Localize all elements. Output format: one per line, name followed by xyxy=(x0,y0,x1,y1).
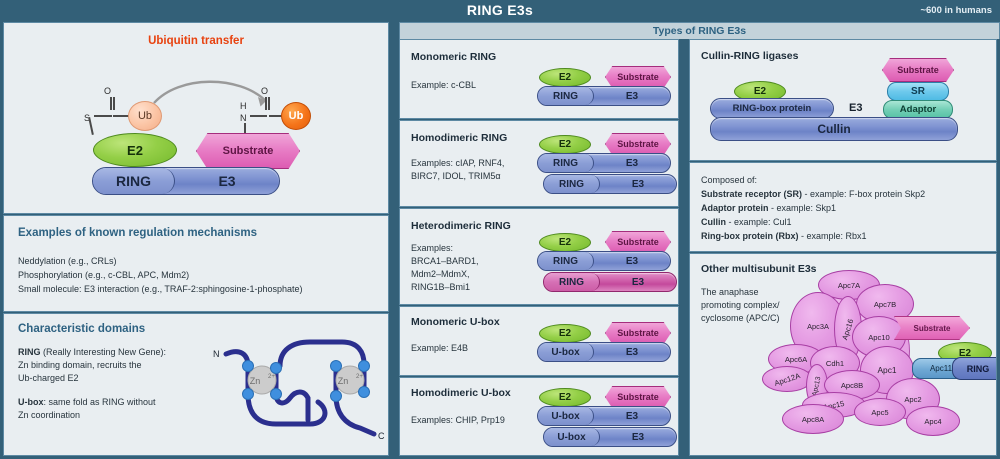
substrate-hexagon: Substrate xyxy=(605,322,671,344)
homodimeric-ubox-example-0: Examples: CHIP, Prp19 xyxy=(411,414,505,426)
apc-subunit: Apc5 xyxy=(854,398,906,426)
composed-row-2: Cullin - example: Cul1 xyxy=(701,215,925,229)
e3-label: E3 xyxy=(175,173,279,189)
regulation-lines: Neddylation (e.g., CRLs) Phosphorylation… xyxy=(18,254,302,296)
ring-box-protein-capsule: RING-box protein xyxy=(710,98,834,119)
substrate-receptor-block: SR xyxy=(887,82,949,101)
bond-c-o-right xyxy=(265,97,267,110)
composed-bold-0: Substrate receptor (SR) xyxy=(701,189,802,199)
ring-box-protein-label: RING-box protein xyxy=(733,103,812,114)
apc-subunit: Apc12A xyxy=(762,366,812,392)
e3-label: E3 xyxy=(600,432,676,443)
heterodimeric-ring-example-1: BRCA1–BARD1, xyxy=(411,255,479,268)
ubox-domain-label: U-box xyxy=(544,428,600,446)
composed-row-3: Ring-box protein (Rbx) - example: Rbx1 xyxy=(701,229,925,243)
ubox-e3-capsule: U-box E3 xyxy=(543,427,677,447)
ring-rest: (Really Interesting New Gene): xyxy=(41,347,167,357)
e3-label: E3 xyxy=(594,158,670,169)
ring-domain-label: RING xyxy=(544,273,600,291)
apc-subunit: Apc4 xyxy=(906,406,960,436)
ring-chip: RING xyxy=(952,357,997,380)
svg-text:Zn: Zn xyxy=(338,376,349,386)
heterodimeric-ring-examples: Examples: BRCA1–BARD1, Mdm2–MdmX, RING1B… xyxy=(411,242,479,294)
bond-c-o-right2 xyxy=(268,97,270,110)
monomeric-ubox-title: Monomeric U-box xyxy=(411,316,500,328)
monomeric-ring-example-0: Example: c-CBL xyxy=(411,79,476,91)
panel-cullin-ring-ligases: Cullin-RING ligases E2 RING-box protein … xyxy=(689,39,997,161)
e3-label: E3 xyxy=(600,277,676,288)
regulation-line-2: Small molecule: E3 interaction (e.g., TR… xyxy=(18,282,302,296)
composed-label: Composed of: xyxy=(701,173,925,187)
homodimeric-ring-example-0: Examples: cIAP, RNF4, xyxy=(411,157,504,170)
ubox-e3-capsule: U-box E3 xyxy=(537,342,671,362)
svg-text:2+: 2+ xyxy=(356,374,363,380)
e2-oval: E2 xyxy=(539,388,591,407)
panel-regulation: Examples of known regulation mechanisms … xyxy=(3,215,389,312)
substrate-hexagon: Substrate xyxy=(605,66,671,88)
composed-row-1: Adaptor protein - example: Skp1 xyxy=(701,201,925,215)
bond-s-c xyxy=(94,115,112,117)
svg-text:Zn: Zn xyxy=(250,376,261,386)
domains-title: Characteristic domains xyxy=(18,323,145,335)
crl-title: Cullin-RING ligases xyxy=(701,50,798,62)
composed-bold-2: Cullin xyxy=(701,217,726,227)
e3-label: E3 xyxy=(594,411,670,422)
ring-domain-label: RING xyxy=(544,175,600,193)
ubox-domain-label: U-box xyxy=(538,343,594,361)
atom-oxygen-left: O xyxy=(104,86,111,96)
substrate-hexagon: Substrate xyxy=(605,133,671,155)
ring-bold: RING xyxy=(18,347,41,357)
apc-title: Other multisubunit E3s xyxy=(701,263,817,275)
e3-label: E3 xyxy=(594,347,670,358)
ring-e3-capsule: RING E3 xyxy=(537,86,671,106)
apc-caption-0: The anaphase xyxy=(701,286,780,299)
panel-ubiquitin-transfer: Ubiquitin transfer O S Ub O H N Ub E2 Su… xyxy=(3,22,389,214)
regulation-line-0: Neddylation (e.g., CRLs) xyxy=(18,254,302,268)
substrate-flag: Substrate xyxy=(894,316,970,340)
ubox-rest: : same fold as RING without xyxy=(44,397,156,407)
panel-monomeric-ubox: Monomeric U-box Example: E4B E2 Substrat… xyxy=(399,306,679,376)
composed-rest-2: - example: Cul1 xyxy=(726,217,792,227)
ring-line-3: Ub-charged E2 xyxy=(18,372,166,385)
e3-label: E3 xyxy=(849,102,862,114)
ring-e3-capsule: RING E3 xyxy=(537,153,671,173)
c-terminus-label: C xyxy=(378,431,385,441)
atom-nitrogen: N xyxy=(240,113,247,123)
atom-oxygen-right: O xyxy=(261,86,268,96)
homodimeric-ubox-title: Homodimeric U-box xyxy=(411,387,511,399)
panel-monomeric-ring: Monomeric RING Example: c-CBL E2 Substra… xyxy=(399,39,679,119)
panel-characteristic-domains: Characteristic domains RING (Really Inte… xyxy=(3,313,389,456)
ubox-definition-line: U-box: same fold as RING without xyxy=(18,396,166,409)
substrate-hexagon: Substrate xyxy=(605,231,671,253)
composed-rest-0: - example: F-box protein Skp2 xyxy=(802,189,925,199)
heterodimeric-ring-example-3: RING1B–Bmi1 xyxy=(411,281,479,294)
ring-domain-label: RING xyxy=(93,168,175,194)
e3-label: E3 xyxy=(600,179,676,190)
ubox-bold: U-box xyxy=(18,397,44,407)
homodimeric-ubox-examples: Examples: CHIP, Prp19 xyxy=(411,414,505,426)
types-banner-label: Types of RING E3s xyxy=(653,25,746,37)
apc-caption: The anaphase promoting complex/ cyclosom… xyxy=(701,286,780,325)
ring-e3-capsule: RING E3 xyxy=(543,174,677,194)
heterodimeric-ring-example-0: Examples: xyxy=(411,242,479,255)
bond-c-o-left xyxy=(110,97,112,110)
monomeric-ubox-examples: Example: E4B xyxy=(411,342,468,354)
e2-oval: E2 xyxy=(539,324,591,343)
poster-root: RING E3s ~600 in humans Types of RING E3… xyxy=(0,0,1000,459)
homodimeric-ring-title: Homodimeric RING xyxy=(411,132,507,144)
substrate-hexagon: Substrate xyxy=(882,58,954,82)
apc-subunit-rotated-label: Apc12A xyxy=(773,371,801,388)
apc-caption-2: cyclosome (APC/C) xyxy=(701,312,780,325)
monomeric-ubox-example-0: Example: E4B xyxy=(411,342,468,354)
bond-c-ub-left xyxy=(113,115,129,117)
e3-label: E3 xyxy=(594,91,670,102)
regulation-line-1: Phosphorylation (e.g., c-CBL, APC, Mdm2) xyxy=(18,268,302,282)
atom-hydrogen: H xyxy=(240,101,247,111)
page-title: RING E3s xyxy=(0,2,1000,18)
homodimeric-ring-example-1: BIRC7, IDOL, TRIM5α xyxy=(411,170,504,183)
heterodimeric-ring-example-2: Mdm2–MdmX, xyxy=(411,268,479,281)
header-note: ~600 in humans xyxy=(920,5,992,16)
ubox-line-2: Zn coordination xyxy=(18,409,166,422)
zinc-finger-diagram: Zn Zn 2+ 2+ xyxy=(218,332,388,450)
types-banner: Types of RING E3s xyxy=(399,22,1000,39)
substrate-hexagon: Substrate xyxy=(605,386,671,408)
ubiquitin-pale: Ub xyxy=(128,101,162,131)
regulation-title: Examples of known regulation mechanisms xyxy=(18,227,257,239)
homodimeric-ring-examples: Examples: cIAP, RNF4, BIRC7, IDOL, TRIM5… xyxy=(411,157,504,183)
panel-other-multisubunit-e3s: Other multisubunit E3s The anaphase prom… xyxy=(689,253,997,456)
ubox-domain-label: U-box xyxy=(538,407,594,425)
heterodimeric-ring-title: Heterodimeric RING xyxy=(411,220,511,232)
ring-e3-capsule: RING E3 xyxy=(537,251,671,271)
composed-rest-3: - example: Rbx1 xyxy=(799,231,867,241)
ubox-e3-capsule: U-box E3 xyxy=(537,406,671,426)
cullin-capsule: Cullin xyxy=(710,117,958,141)
ring-e3-capsule-magenta: RING E3 xyxy=(543,272,677,292)
panel-homodimeric-ubox: Homodimeric U-box Examples: CHIP, Prp19 … xyxy=(399,377,679,456)
apc-subunit: Apc8A xyxy=(782,404,844,434)
header-bar: RING E3s ~600 in humans xyxy=(0,0,1000,22)
composed-rest-1: - example: Skp1 xyxy=(769,203,837,213)
domains-spacer xyxy=(18,385,166,396)
domains-text: RING (Really Interesting New Gene): Zn b… xyxy=(18,346,166,422)
bond-n-c xyxy=(250,115,267,117)
monomeric-ring-title: Monomeric RING xyxy=(411,51,496,63)
e2-oval: E2 xyxy=(539,68,591,87)
e2-oval: E2 xyxy=(539,233,591,252)
bond-c-o-left2 xyxy=(113,97,115,110)
composed-bold-3: Ring-box protein (Rbx) xyxy=(701,231,799,241)
apc-caption-1: promoting complex/ xyxy=(701,299,780,312)
ubiquitin-orange: Ub xyxy=(281,102,311,130)
ring-line-2: Zn binding domain, recruits the xyxy=(18,359,166,372)
e2-oval: E2 xyxy=(539,135,591,154)
cullin-label: Cullin xyxy=(817,122,850,136)
ring-domain-label: RING xyxy=(538,154,594,172)
e3-label: E3 xyxy=(594,256,670,267)
ring-e3-capsule: RING E3 xyxy=(92,167,280,195)
ring-domain-label: RING xyxy=(538,252,594,270)
ring-definition-line: RING (Really Interesting New Gene): xyxy=(18,346,166,359)
monomeric-ring-examples: Example: c-CBL xyxy=(411,79,476,91)
panel-heterodimeric-ring: Heterodimeric RING Examples: BRCA1–BARD1… xyxy=(399,208,679,305)
n-terminus-label: N xyxy=(213,349,220,359)
composed-bold-1: Adaptor protein xyxy=(701,203,769,213)
substrate-hexagon: Substrate xyxy=(196,133,300,169)
svg-text:2+: 2+ xyxy=(268,374,275,380)
panel-homodimeric-ring: Homodimeric RING Examples: cIAP, RNF4, B… xyxy=(399,120,679,207)
composed-row-0: Substrate receptor (SR) - example: F-box… xyxy=(701,187,925,201)
panel-crl-composition: Composed of: Substrate receptor (SR) - e… xyxy=(689,162,997,252)
e2-oval: E2 xyxy=(93,133,177,167)
ring-domain-label: RING xyxy=(538,87,594,105)
crl-composition-text: Composed of: Substrate receptor (SR) - e… xyxy=(701,173,925,243)
